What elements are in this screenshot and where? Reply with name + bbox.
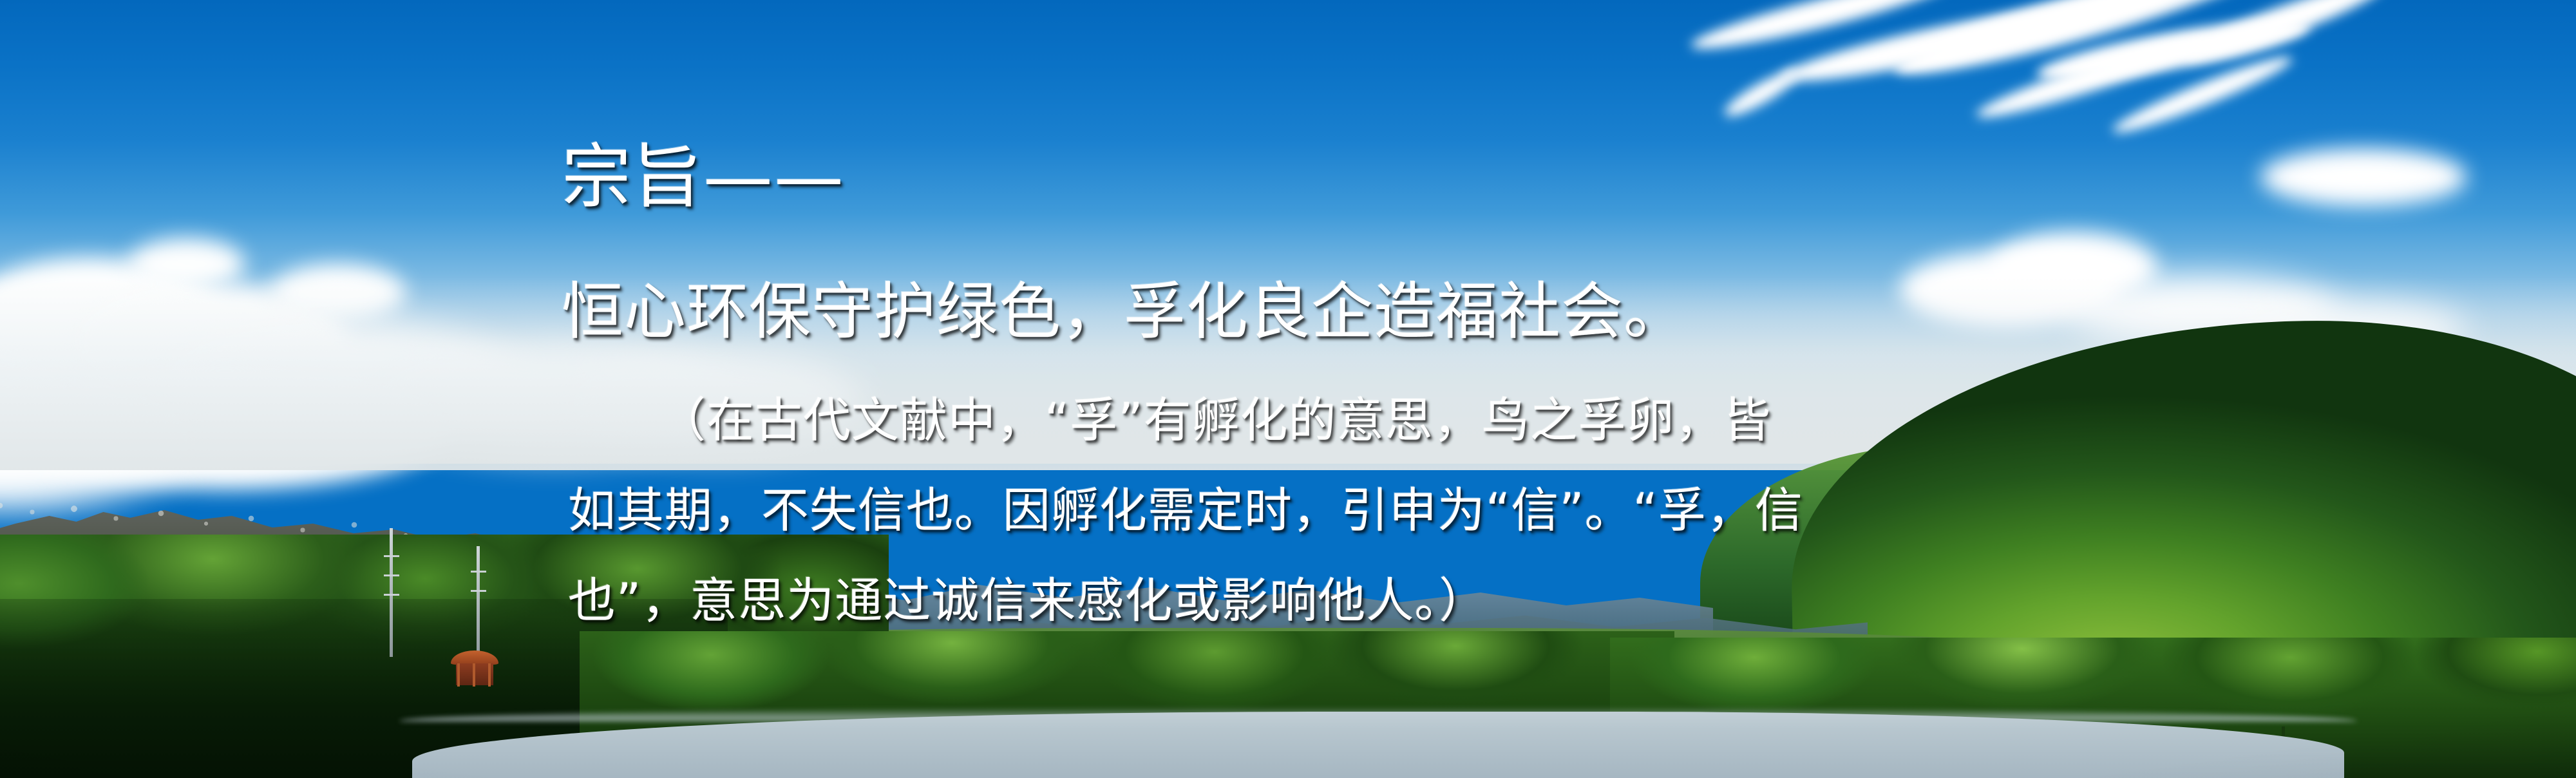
pavilion-post <box>473 663 475 687</box>
communication-mast <box>390 528 393 657</box>
cloud-wisp <box>1720 64 1803 123</box>
banner-slogan: 恒心环保守护绿色，孚化良企造福社会。 <box>562 281 1686 343</box>
mast-arm <box>471 590 486 592</box>
pavilion-post <box>457 663 460 687</box>
cloud-puff <box>2260 148 2467 206</box>
hilltop-pavilion <box>451 650 498 688</box>
pavilion-post <box>488 663 491 687</box>
mast-arm <box>384 555 399 557</box>
banner-title: 宗旨—— <box>562 143 845 213</box>
pavilion-roof <box>451 650 498 665</box>
banner-note-line-2: 如其期，不失信也。因孵化需定时，引申为“信”。“孚，信 <box>568 487 1803 535</box>
mast-arm <box>384 574 399 576</box>
mast-arm <box>384 594 399 596</box>
banner-note-line-3: 也”，意思为通过诚信来感化或影响他人。） <box>568 577 1487 625</box>
hero-banner: 宗旨—— 恒心环保守护绿色，孚化良企造福社会。 （在古代文献中，“孚”有孵化的意… <box>0 0 2576 778</box>
mast-arm <box>471 571 486 573</box>
banner-note-line-1: （在古代文献中，“孚”有孵化的意思，鸟之孚卵，皆 <box>658 397 1772 444</box>
